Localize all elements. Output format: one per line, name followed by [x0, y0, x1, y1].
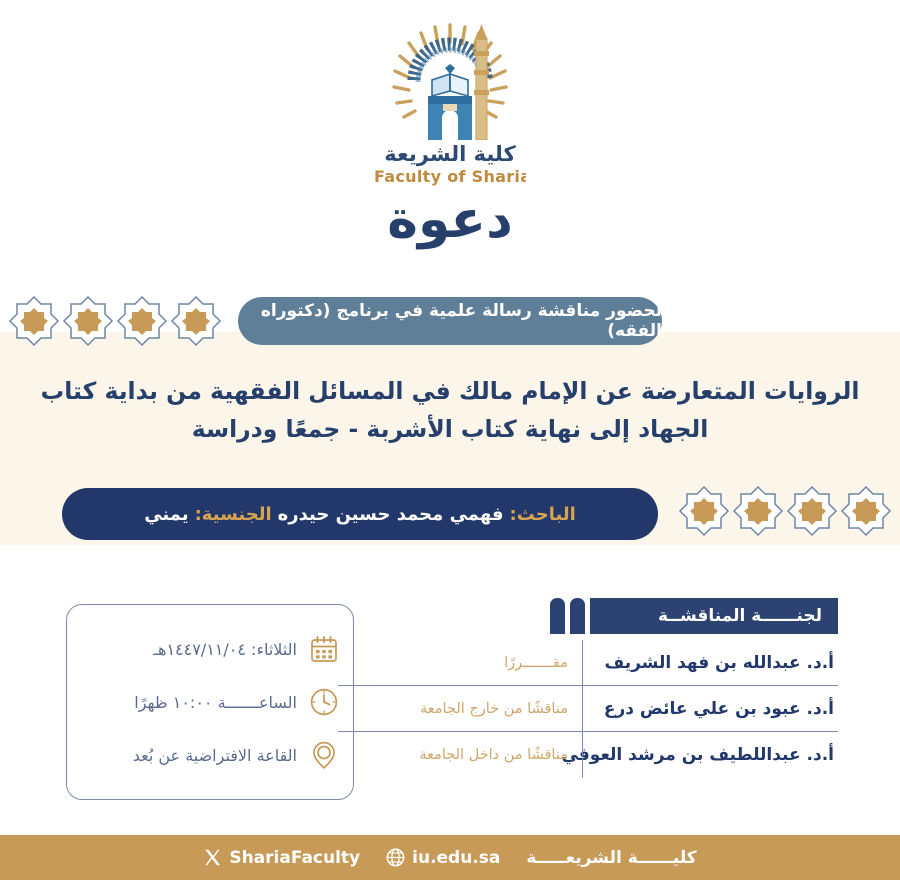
- nationality-label: الجنسية:: [195, 504, 272, 525]
- logo-english-name: Faculty of Sharia: [374, 167, 526, 186]
- nationality-value: يمني: [144, 504, 188, 525]
- committee-header-text: لجنــــــة المناقشــة: [658, 606, 822, 626]
- researcher-label: الباحث:: [510, 504, 576, 525]
- eight-point-star-icon: [786, 485, 838, 537]
- ornament-stars-right: [678, 485, 892, 537]
- event-details-card: الثلاثاء: ١٤٤٧/١١/٠٤هـ الساعـــــــة ١٠:…: [66, 604, 354, 800]
- member-name: أ.د. عبود بن علي عائض درع: [583, 699, 838, 719]
- x-twitter-icon: [203, 848, 222, 867]
- page-title-dawa: دعوة: [387, 194, 513, 246]
- member-role: مناقشًا من خارج الجامعة: [338, 686, 583, 731]
- footer-twitter-link[interactable]: ShariaFaculty: [203, 848, 360, 868]
- detail-time-text: الساعـــــــة ١٠:٠٠ ظهرًا: [134, 693, 297, 712]
- detail-row-date: الثلاثاء: ١٤٤٧/١١/٠٤هـ: [81, 634, 339, 664]
- member-name: أ.د. عبداللطيف بن مرشد العوفي: [583, 745, 838, 765]
- eight-point-star-icon: [116, 295, 168, 347]
- footer-website-text: iu.edu.sa: [412, 848, 500, 868]
- subtitle-text: لحضور مناقشة رسالة علمية في برنامج (دكتو…: [238, 301, 662, 341]
- footer-bar: كليــــــة الشريعـــــة iu.edu.sa Sharia…: [0, 835, 900, 880]
- member-name: أ.د. عبدالله بن فهد الشريف: [583, 653, 838, 673]
- committee-members-table: أ.د. عبدالله بن فهد الشريف مقـــــــررًا…: [338, 640, 838, 778]
- location-pin-icon: [309, 740, 339, 770]
- table-row: أ.د. عبدالله بن فهد الشريف مقـــــــررًا: [338, 640, 838, 686]
- logo-arabic-name: كلية الشريعة: [384, 142, 515, 166]
- invitation-poster: كلية الشريعة Faculty of Sharia دعوة: [0, 0, 900, 880]
- eight-point-star-icon: [732, 485, 784, 537]
- footer-twitter-text: ShariaFaculty: [229, 848, 360, 868]
- researcher-banner: الباحث: فهمي محمد حسين حيدره الجنسية: يم…: [62, 488, 658, 540]
- member-role: مناقشًا من داخل الجامعة: [338, 732, 583, 778]
- table-row: أ.د. عبود بن علي عائض درع مناقشًا من خار…: [338, 686, 838, 732]
- globe-icon: [386, 848, 405, 867]
- committee-header: لجنــــــة المناقشــة: [544, 598, 838, 634]
- researcher-name: فهمي محمد حسين حيدره: [278, 504, 504, 525]
- arch-shape-icon: [550, 598, 565, 634]
- committee-header-bar: لجنــــــة المناقشــة: [605, 598, 838, 634]
- detail-location-text: القاعة الافتراضية عن بُعد: [133, 746, 297, 765]
- footer-website-link[interactable]: iu.edu.sa: [386, 848, 500, 868]
- member-role: مقـــــــررًا: [338, 640, 583, 685]
- detail-row-location: القاعة الافتراضية عن بُعد: [81, 740, 339, 770]
- calendar-icon: [309, 634, 339, 664]
- eight-point-star-icon: [840, 485, 892, 537]
- eight-point-star-icon: [8, 295, 60, 347]
- eight-point-star-icon: [170, 295, 222, 347]
- islamic-university-madinah-logo: [388, 18, 512, 140]
- eight-point-star-icon: [678, 485, 730, 537]
- subtitle-banner: لحضور مناقشة رسالة علمية في برنامج (دكتو…: [238, 297, 662, 345]
- eight-point-star-icon: [62, 295, 114, 347]
- arch-ornament-group: [544, 598, 605, 634]
- table-row: أ.د. عبداللطيف بن مرشد العوفي مناقشًا من…: [338, 732, 838, 778]
- thesis-title: الروايات المتعارضة عن الإمام مالك في الم…: [34, 372, 866, 448]
- footer-college-name: كليــــــة الشريعـــــة: [526, 848, 696, 868]
- university-logo-block: كلية الشريعة Faculty of Sharia دعوة: [0, 18, 900, 246]
- detail-row-time: الساعـــــــة ١٠:٠٠ ظهرًا: [81, 687, 339, 717]
- detail-date-text: الثلاثاء: ١٤٤٧/١١/٠٤هـ: [153, 640, 297, 659]
- ornament-stars-left: [8, 295, 222, 347]
- arch-shape-icon: [590, 598, 605, 634]
- arch-shape-icon: [570, 598, 585, 634]
- clock-icon: [309, 687, 339, 717]
